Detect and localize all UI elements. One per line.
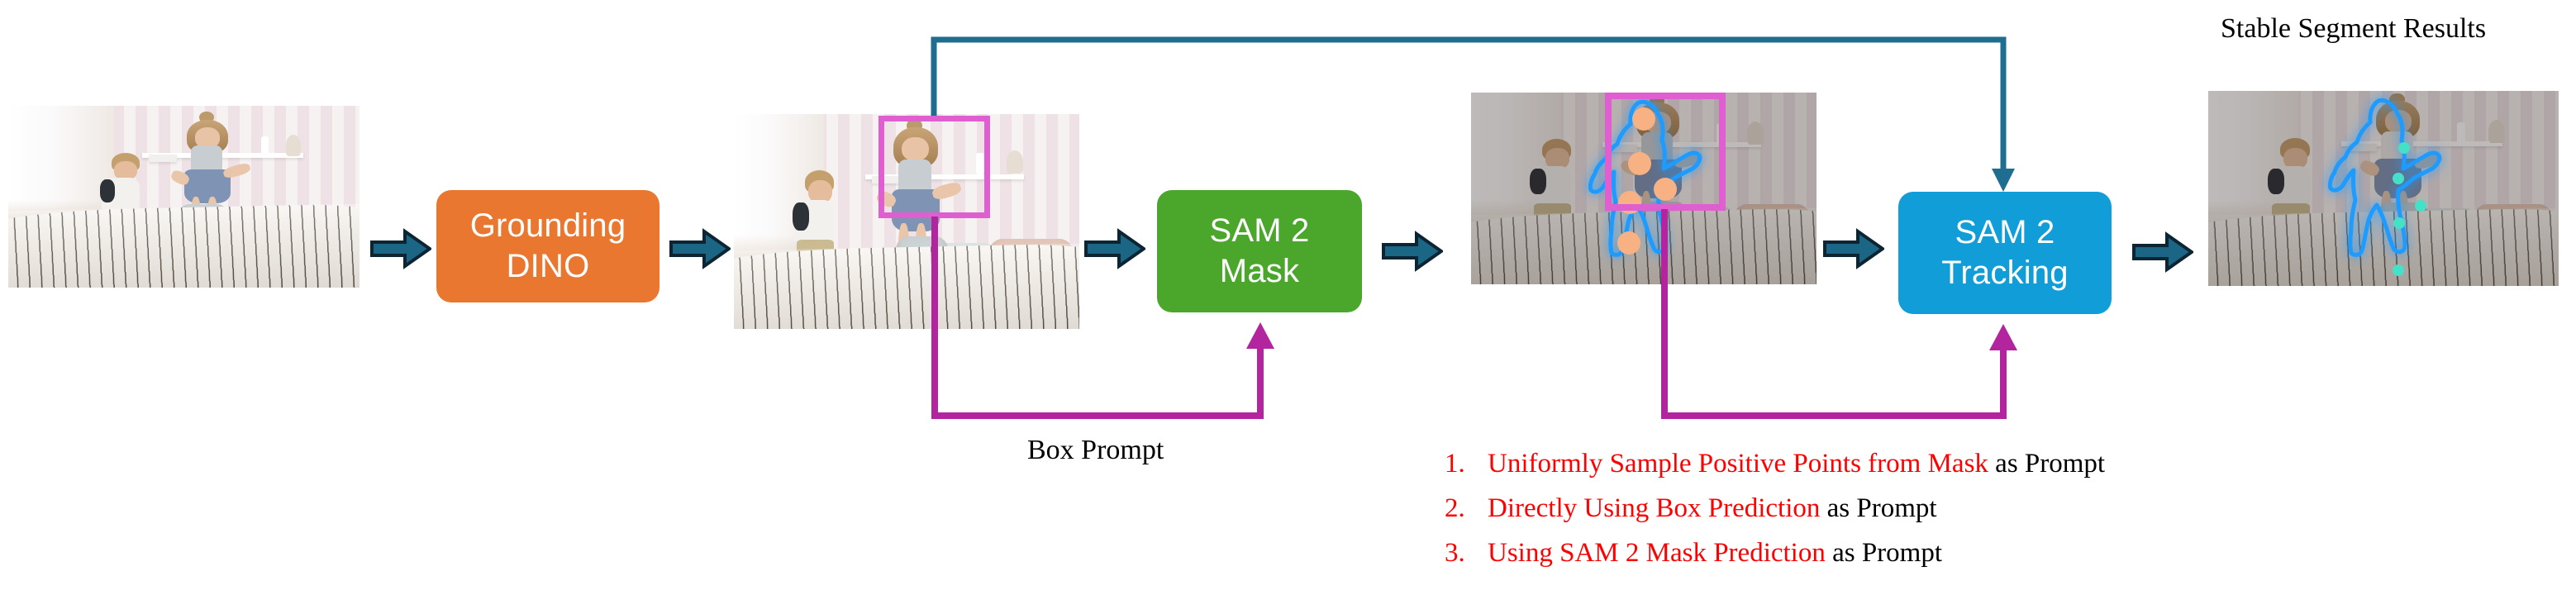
- flow-arrow-2: [669, 228, 731, 269]
- flow-arrow-3: [1084, 228, 1145, 269]
- input-frame: [8, 106, 359, 288]
- list-item-number: 3.: [1445, 538, 1488, 569]
- stage-label-line2: Mask: [1209, 251, 1309, 292]
- flow-arrow-5: [1823, 228, 1884, 269]
- result-frame: [2208, 91, 2559, 286]
- box-prompt-label: Box Prompt: [1027, 435, 1164, 466]
- diagram-canvas: Grounding DINO: [0, 0, 2576, 600]
- prompt-options-list: 1. Uniformly Sample Positive Points from…: [1445, 449, 2105, 583]
- detection-bounding-box: [879, 116, 990, 218]
- list-item-tail: as Prompt: [1988, 449, 2105, 479]
- list-item-highlight: Uniformly Sample Positive Points from Ma…: [1488, 449, 1988, 479]
- list-item: 3. Using SAM 2 Mask Prediction as Prompt: [1445, 538, 2105, 569]
- flow-arrow-6: [2132, 231, 2193, 273]
- list-item-tail: as Prompt: [1826, 538, 1942, 568]
- tracked-point-5: [2393, 264, 2404, 276]
- list-item: 2. Directly Using Box Prediction as Prom…: [1445, 493, 2105, 524]
- mask-bounding-box: [1605, 93, 1726, 211]
- stage-sam2-tracking[interactable]: SAM 2 Tracking: [1898, 192, 2112, 314]
- stage-label-line2: DINO: [470, 246, 626, 287]
- stage-label-line1: Grounding: [470, 206, 626, 246]
- tracked-point-4: [2393, 217, 2405, 229]
- tracked-point-3: [2415, 200, 2426, 212]
- list-item-highlight: Directly Using Box Prediction: [1488, 493, 1820, 523]
- stage-grounding-dino[interactable]: Grounding DINO: [436, 190, 659, 302]
- result-title: Stable Segment Results: [2221, 13, 2486, 45]
- list-item-number: 1.: [1445, 449, 1488, 479]
- stage-label-line1: SAM 2: [1209, 211, 1309, 251]
- list-item-highlight: Using SAM 2 Mask Prediction: [1488, 538, 1826, 568]
- stage-sam2-mask[interactable]: SAM 2 Mask: [1157, 190, 1362, 312]
- list-item-tail: as Prompt: [1820, 493, 1936, 523]
- list-item-number: 2.: [1445, 493, 1488, 524]
- tracked-point-2: [2393, 173, 2404, 184]
- flow-arrow-4: [1382, 231, 1443, 272]
- sampled-point-5: [1617, 231, 1640, 255]
- list-item: 1. Uniformly Sample Positive Points from…: [1445, 449, 2105, 479]
- stage-label-line2: Tracking: [1941, 253, 2069, 293]
- flow-arrow-1: [370, 228, 431, 269]
- tracked-point-1: [2398, 142, 2410, 154]
- stage-label-line1: SAM 2: [1941, 212, 2069, 253]
